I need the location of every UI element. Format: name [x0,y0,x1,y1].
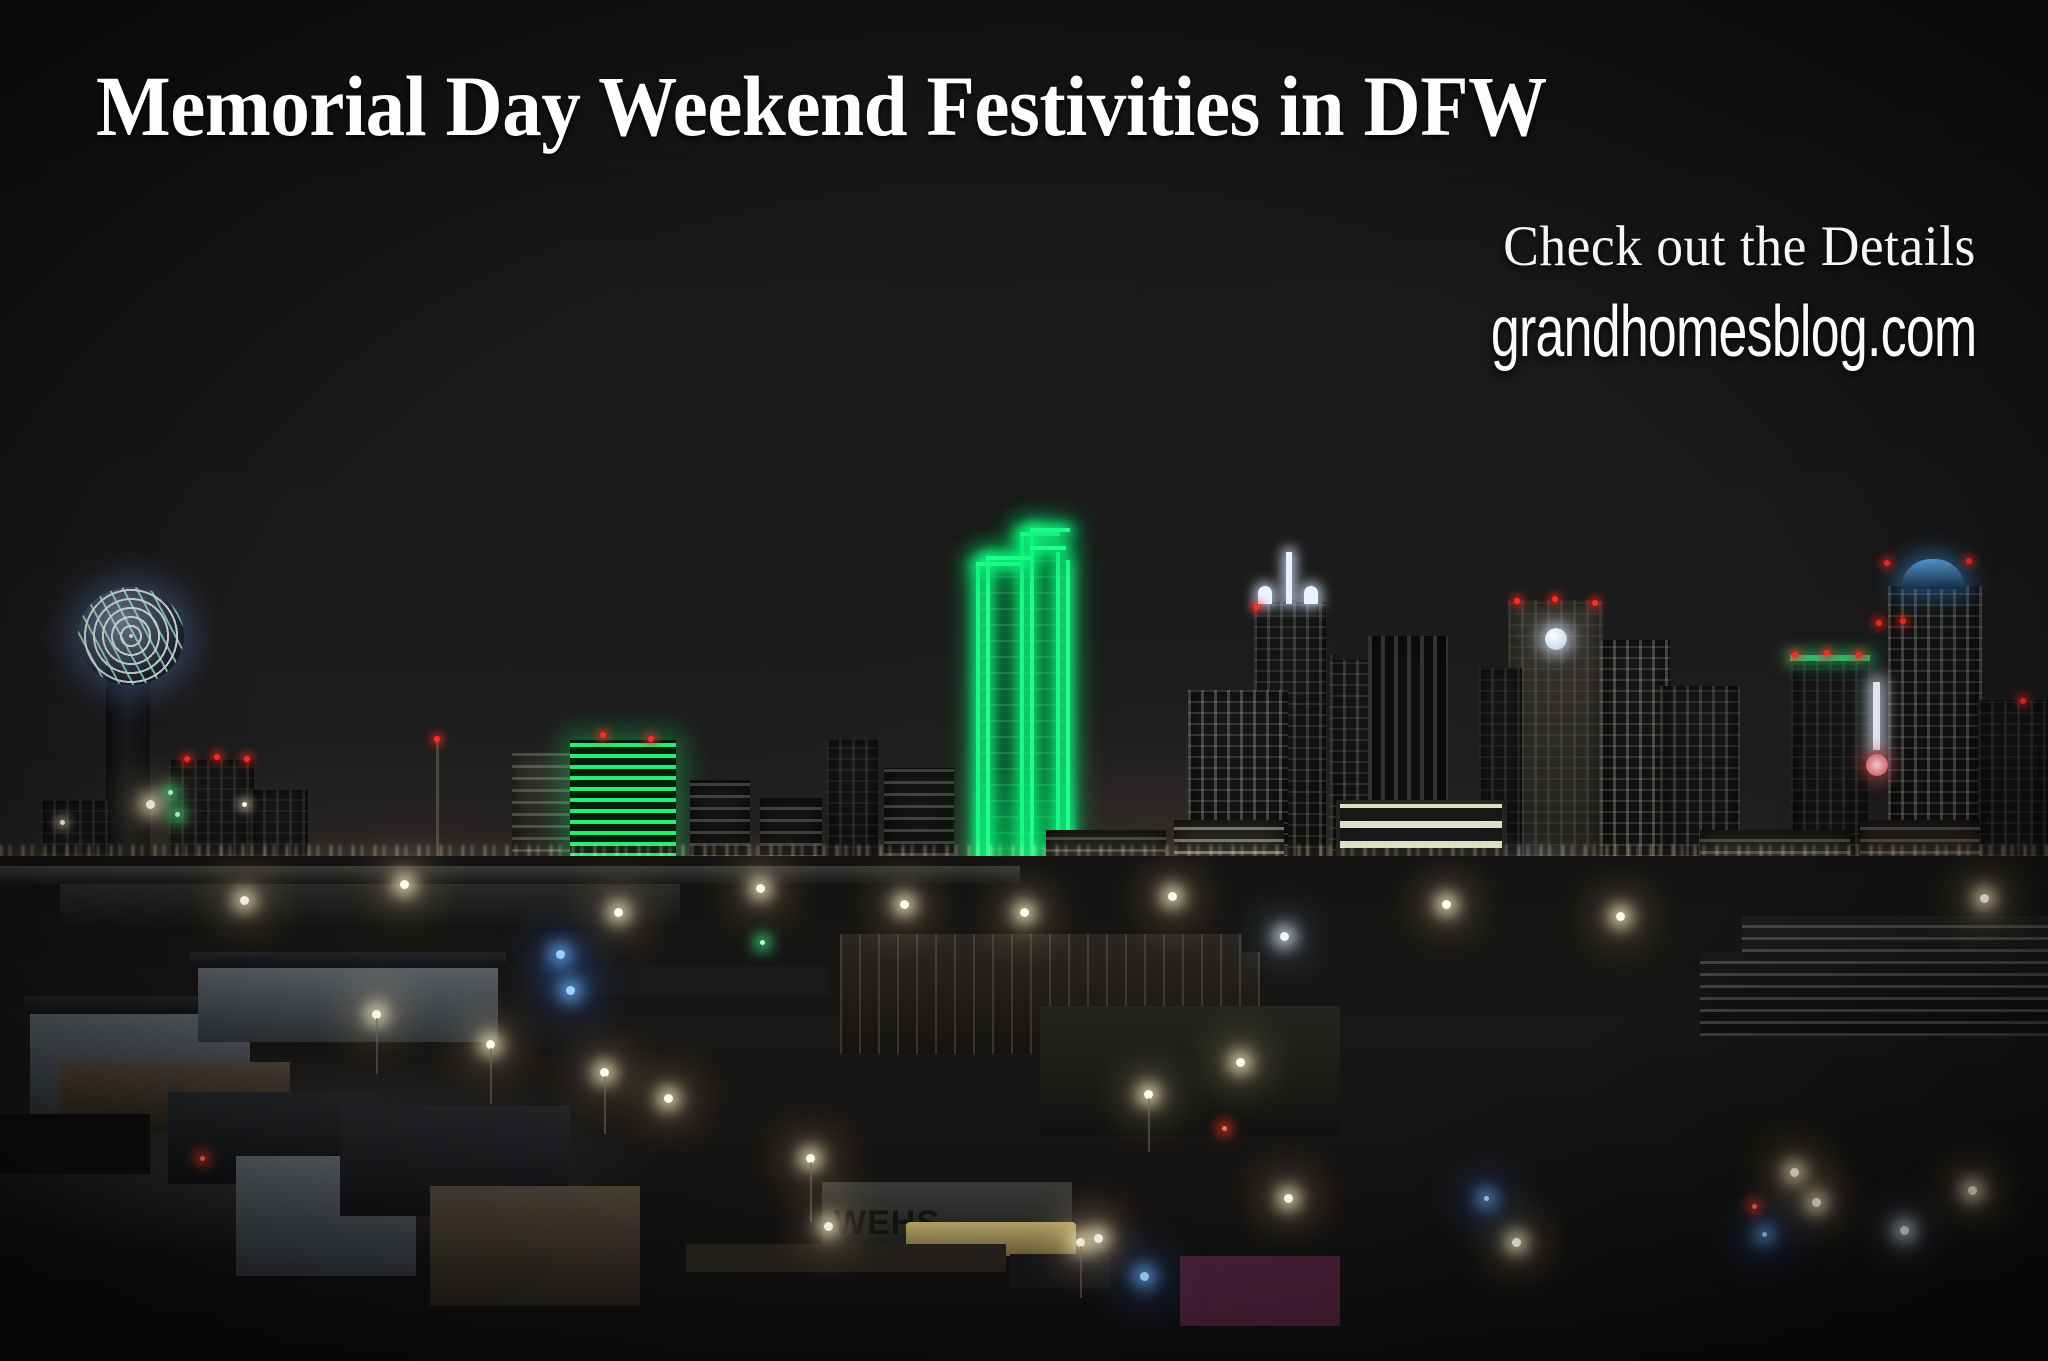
overpass-understructure [60,884,680,930]
boa-neon-edge [986,558,990,866]
red-marker-light [1222,1126,1227,1131]
street-lamp [1020,908,1029,917]
beacon-light [648,736,654,742]
street-lamp [1968,1186,1977,1195]
street-lamp [664,1094,673,1103]
street-lamp [60,820,65,825]
rooftop-unit [1180,1256,1340,1326]
beacon-light [1592,600,1598,606]
website-url[interactable]: grandhomesblog.com [1490,296,1976,368]
foreground-district: WEHS YO [0,856,2048,1361]
green-accent-light [175,812,180,817]
street-lamp [242,802,247,807]
beacon-light [1966,558,1972,564]
overpass-deck [0,866,1020,884]
boa-neon-edge [976,564,980,866]
boa-neon-edge [1030,530,1034,866]
street-lamp [900,900,909,909]
boa-neon-setback [986,556,1032,560]
street-lamp [614,908,623,917]
truck-cab [1010,1254,1110,1288]
round-sign-logo [1866,754,1888,776]
lamp-pole [604,1076,606,1134]
street-lamp [1284,1194,1293,1203]
street-lamp [1280,932,1289,941]
beacon-light [244,756,250,762]
beacon-light [1792,652,1798,658]
page-title: Memorial Day Weekend Festivities in DFW [96,62,1826,151]
street-lamp [1512,1238,1521,1247]
lamp-pole [490,1048,492,1104]
lamp-pole [1080,1246,1082,1298]
reunion-sphere-lights [78,587,184,685]
blue-accent-light [1140,1272,1149,1281]
green-accent-light [168,790,173,795]
street-lamp [1980,894,1989,903]
boa-neon-edge [1056,552,1060,866]
warehouse-7 [540,966,830,996]
green-accent-light [760,940,765,945]
att-globe-logo [1545,628,1567,650]
building-right-foreground [1700,916,2048,1036]
red-marker-light [200,1156,205,1161]
mast-beacon [434,736,440,742]
renaissance-right-spire [1304,586,1318,604]
beacon-light [2020,698,2026,704]
flatbed-load [686,1244,1006,1272]
chase-tower-crown [1901,559,1965,589]
street-lamp [1442,900,1451,909]
beacon-light [1900,618,1906,624]
blue-accent-light [1762,1232,1767,1237]
boa-neon-setback [1030,546,1066,550]
street-lamp [1094,1234,1103,1243]
warehouse-2-roof [190,952,506,968]
blue-accent-light [1484,1196,1489,1201]
boa-neon-edge [1020,534,1024,866]
red-marker-light [1752,1204,1757,1209]
beacon-light [1824,650,1830,656]
warehouse-2 [198,962,498,1042]
street-lamp [240,896,249,905]
boa-neon-setback [1030,528,1070,532]
commercial-block-2 [1040,1006,1340,1136]
renaissance-left-spire [1258,586,1272,604]
beacon-light [184,756,190,762]
warehouse-6 [0,1114,150,1174]
beacon-light [1514,598,1520,604]
street-lamp [1616,912,1625,921]
street-lamp [1168,892,1177,901]
boa-neon-setback [1020,532,1060,536]
street-lamp [756,884,765,893]
reunion-tower-sphere [78,587,184,685]
beacon-light [1856,652,1862,658]
poster-canvas: WEHS YO [0,0,2048,1361]
beacon-light [1552,596,1558,602]
beacon-light [1884,560,1890,566]
street-lamp [824,1222,833,1231]
blue-accent-light [556,950,565,959]
beacon-light [1876,620,1882,626]
beacon-light [1254,604,1260,610]
boa-neon-edge [1066,560,1070,866]
lamp-pole [376,1018,378,1074]
warehouse-5 [430,1186,640,1306]
renaissance-center-spire [1286,552,1292,604]
street-lamp [1812,1198,1821,1207]
street-lamp [400,880,409,889]
vertical-sign [1873,682,1880,750]
bank-of-america-plaza [968,516,1078,866]
beacon-light [600,732,606,738]
boa-neon-setback [976,562,1022,566]
garage-top-deck [1242,908,1742,952]
street-lamp [1236,1058,1245,1067]
subtitle: Check out the Details [1503,218,1976,275]
street-lamp [1900,1226,1909,1235]
street-lamp [1790,1168,1799,1177]
blue-accent-light [566,986,575,995]
lamp-pole [1148,1098,1150,1152]
beacon-light [214,754,220,760]
lamp-pole [810,1162,812,1222]
street-lamp [146,800,155,809]
